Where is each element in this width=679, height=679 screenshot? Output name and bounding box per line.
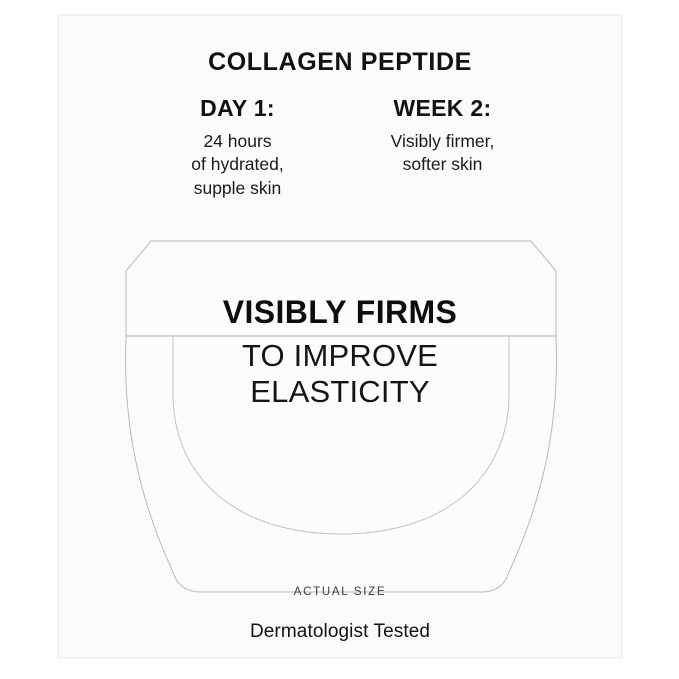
actual-size-caption: ACTUAL SIZE [59,586,621,598]
benefits-row: DAY 1: 24 hours of hydrated, supple skin… [59,94,621,200]
benefit-line: of hydrated, [135,153,340,176]
benefit-line: softer skin [340,153,545,176]
benefit-line: 24 hours [135,130,340,153]
product-card: COLLAGEN PEPTIDE DAY 1: 24 hours of hydr… [58,15,622,658]
dermatologist-tested-label: Dermatologist Tested [59,621,621,643]
claim-block: VISIBLY FIRMS TO IMPROVE ELASTICITY [59,296,621,410]
benefit-line: Visibly firmer, [340,130,545,153]
benefit-body-day1: 24 hours of hydrated, supple skin [135,130,340,200]
benefit-column-week2: WEEK 2: Visibly firmer, softer skin [340,94,545,200]
benefit-title-day1: DAY 1: [135,94,340,123]
benefit-column-day1: DAY 1: 24 hours of hydrated, supple skin [135,94,340,200]
claim-sub-line: TO IMPROVE [59,338,621,374]
claim-headline: VISIBLY FIRMS [59,296,621,330]
benefit-body-week2: Visibly firmer, softer skin [340,130,545,177]
benefit-line: supple skin [135,177,340,200]
product-panel: COLLAGEN PEPTIDE DAY 1: 24 hours of hydr… [0,0,679,679]
benefit-title-week2: WEEK 2: [340,94,545,123]
page-title: COLLAGEN PEPTIDE [59,48,621,77]
claim-subtext: TO IMPROVE ELASTICITY [59,338,621,411]
claim-sub-line: ELASTICITY [59,374,621,410]
